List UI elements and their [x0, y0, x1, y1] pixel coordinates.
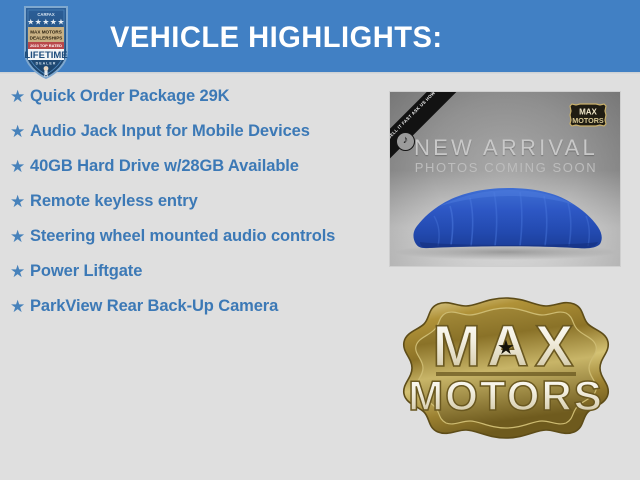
photo-subline: PHOTOS COMING SOON [390, 160, 621, 176]
highlight-label: Steering wheel mounted audio controls [30, 226, 335, 247]
badge-dealer-line-2: DEALERSHIPS [30, 36, 63, 41]
highlight-label: Quick Order Package 29K [30, 86, 229, 107]
carfax-lifetime-dealer-badge: CARFAX ★★★★★ MAX MOTORS DEALERSHIPS 2023… [22, 4, 70, 80]
star-bullet-icon: ★ [10, 121, 30, 142]
star-bullet-icon: ★ [10, 156, 30, 177]
new-arrival-photo[interactable]: SELL IT FAST ASK US HOW ♪ NEW ARRIVAL PH… [389, 91, 621, 267]
badge-sub-line: DEALER [36, 62, 57, 66]
page-title: VEHICLE HIGHLIGHTS: [110, 22, 443, 54]
max-motors-logo: MAX ★ MOTORS [396, 292, 618, 454]
star-bullet-icon: ★ [10, 226, 30, 247]
badge-stars: ★★★★★ [27, 18, 65, 27]
star-bullet-icon: ★ [10, 86, 30, 107]
header-divider [0, 72, 640, 75]
draped-car-icon [410, 176, 606, 252]
list-item: ★ Audio Jack Input for Mobile Devices [0, 121, 372, 142]
highlight-label: Power Liftgate [30, 261, 142, 282]
list-item: ★ Quick Order Package 29K [0, 86, 372, 107]
logo-star-icon: ★ [497, 337, 515, 359]
star-bullet-icon: ★ [10, 261, 30, 282]
photo-headline: NEW ARRIVAL [390, 136, 621, 160]
watermark-bottom-label: MOTORS [572, 116, 604, 125]
highlight-label: Remote keyless entry [30, 191, 198, 212]
highlight-label: ParkView Rear Back-Up Camera [30, 296, 278, 317]
highlight-label: Audio Jack Input for Mobile Devices [30, 121, 310, 142]
page-header: VEHICLE HIGHLIGHTS: [0, 0, 640, 72]
star-bullet-icon: ★ [10, 296, 30, 317]
list-item: ★ Remote keyless entry [0, 191, 372, 212]
logo-bottom-word: MOTORS [408, 372, 604, 419]
badge-lifetime-line: LIFETIME [24, 50, 67, 61]
badge-dealer-line-1: MAX MOTORS [30, 30, 62, 35]
badge-rated-line: 2023 TOP RATED [30, 43, 62, 48]
list-item: ★ Power Liftgate [0, 261, 372, 282]
list-item: ★ 40GB Hard Drive w/28GB Available [0, 156, 372, 177]
max-motors-watermark: MAX MOTORS [567, 102, 609, 128]
list-item: ★ Steering wheel mounted audio controls [0, 226, 372, 247]
badge-brand-line: CARFAX [37, 12, 54, 17]
highlight-label: 40GB Hard Drive w/28GB Available [30, 156, 299, 177]
star-bullet-icon: ★ [10, 191, 30, 212]
list-item: ★ ParkView Rear Back-Up Camera [0, 296, 372, 317]
vehicle-highlights-list: ★ Quick Order Package 29K ★ Audio Jack I… [0, 86, 372, 331]
